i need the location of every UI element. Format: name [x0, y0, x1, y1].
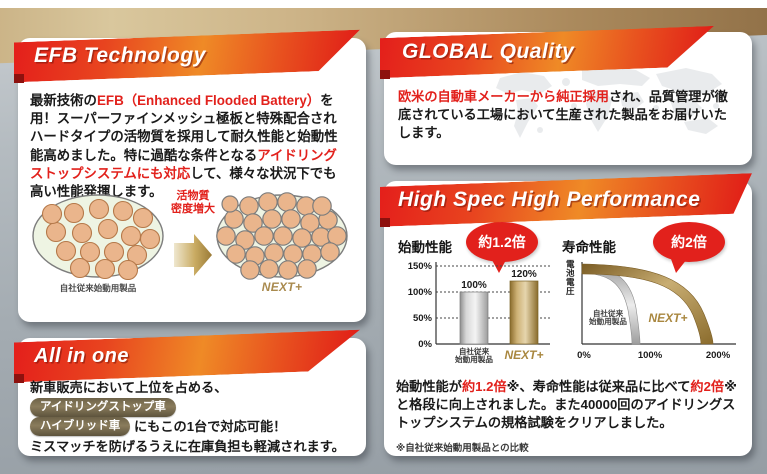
efb-seg-1: EFB（Enhanced Flooded Battery） [97, 93, 320, 108]
banner-fold-perf [380, 218, 390, 227]
perf-seg-2: ※、寿命性能は従来品に比べて [507, 379, 691, 394]
efb-seg-0: 最新技術の [30, 93, 97, 108]
banner-fold-global [380, 70, 390, 79]
density-line1: 活物質 [177, 190, 210, 202]
particle-density-diagram: 自社従来始動用製品 活物質 密度増大 NEXT+ [30, 192, 350, 304]
chart-title-life-performance: 寿命性能 [562, 236, 616, 256]
banner-fold-efb [14, 74, 24, 83]
svg-text:100%: 100% [461, 280, 487, 291]
svg-text:100%: 100% [638, 350, 663, 361]
svg-text:100%: 100% [408, 287, 433, 298]
pill-hybrid-car: ハイブリッド車 [30, 417, 130, 436]
banner-global-quality-label: GLOBAL Quality [380, 32, 714, 64]
pill-idling-stop-car: アイドリングストップ車 [30, 398, 176, 417]
performance-body-text: 始動性能が約1.2倍※、寿命性能は従来品に比べて約2倍※と格段に向上されました。… [396, 378, 740, 432]
banner-all-in-one-label: All in one [14, 336, 360, 368]
all-in-one-line3: ミスマッチを防げるうえに在庫負担も軽減されます。 [30, 439, 345, 454]
oval-conventional-product [30, 192, 166, 280]
performance-footnote: ※自社従来始動用製品との比較 [396, 440, 529, 454]
all-in-one-line1: 新車販売において上位を占める、 [30, 380, 227, 395]
badge-approx-2x: 約2倍 [653, 222, 725, 262]
efb-body-text: 最新技術のEFB（Enhanced Flooded Battery）を用！スーパ… [30, 92, 346, 201]
svg-text:NEXT+: NEXT+ [648, 311, 687, 325]
oval-next-plus-product [214, 192, 350, 280]
banner-high-spec-label: High Spec High Performance [380, 180, 752, 212]
chart-title-start-performance: 始動性能 [398, 236, 452, 256]
line-chart-life-performance: 自社従来始動用製品 NEXT+ 0%100%200% [564, 258, 742, 370]
svg-text:150%: 150% [408, 261, 433, 272]
all-in-one-body-text: 新車販売において上位を占める、アイドリングストップ車 ハイブリッド車 にもこの1… [30, 378, 352, 456]
svg-text:NEXT+: NEXT+ [504, 348, 543, 362]
badge-approx-1-2x: 約1.2倍 [466, 222, 538, 262]
density-line2: 密度増大 [171, 203, 215, 215]
svg-text:0%: 0% [577, 350, 591, 361]
banner-fold-all-in-one [14, 374, 24, 383]
svg-text:始動用製品: 始動用製品 [589, 316, 627, 326]
perf-seg-1: 約1.2倍 [462, 379, 507, 394]
diagram-density-label: 活物質 密度増大 [166, 190, 220, 216]
badge-2x-label: 約2倍 [671, 232, 707, 252]
all-in-one-line2: にもこの1台で対応可能！ [134, 419, 286, 434]
density-increase-arrow-icon [172, 232, 214, 278]
badge-1-2x-label: 約1.2倍 [478, 232, 525, 252]
global-seg-0: 欧米の自動車メーカーから純正採用 [398, 89, 609, 104]
bar-chart-start-performance: 150%100%50%0% 100%120% 自社従来始動用製品 NEXT+ [398, 258, 558, 370]
svg-text:始動用製品: 始動用製品 [455, 354, 493, 364]
perf-seg-0: 始動性能が [396, 379, 462, 394]
svg-text:50%: 50% [413, 313, 433, 324]
diagram-left-label: 自社従来始動用製品 [30, 282, 166, 294]
diagram-right-label: NEXT+ [214, 280, 350, 294]
banner-efb-label: EFB Technology [14, 36, 360, 68]
global-quality-body-text: 欧米の自動車メーカーから純正採用され、品質管理が徹底されている工場において生産さ… [398, 88, 738, 142]
perf-seg-3: 約2倍 [690, 379, 724, 394]
svg-text:200%: 200% [706, 350, 731, 361]
svg-text:0%: 0% [418, 339, 432, 350]
svg-text:120%: 120% [511, 269, 537, 280]
